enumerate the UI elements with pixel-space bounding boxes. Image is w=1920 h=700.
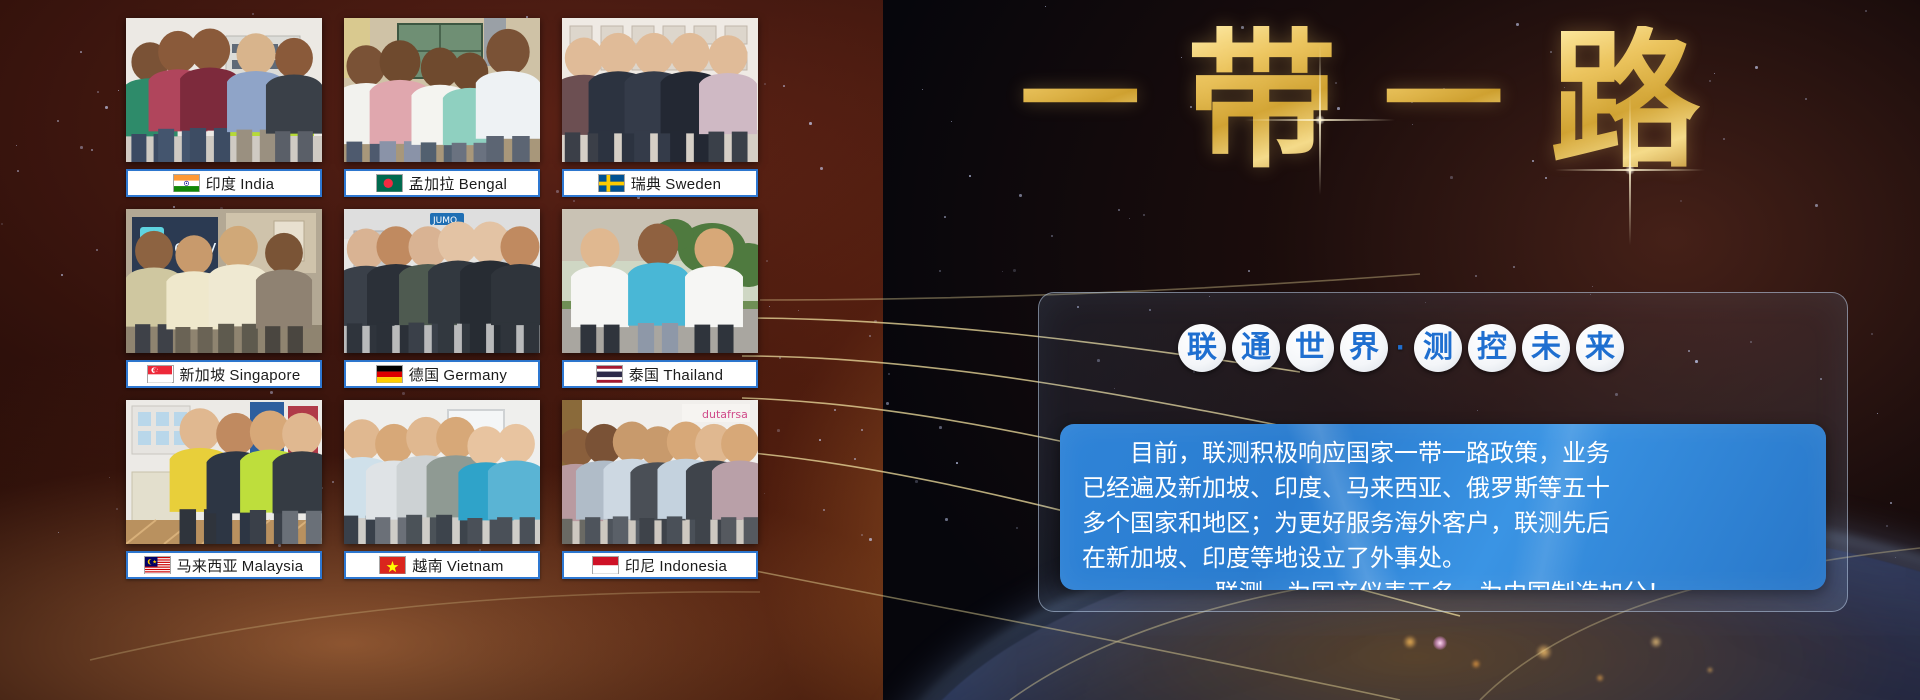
photo-bengal-factory-group (344, 18, 540, 162)
photo-indonesia-showroom: dutafrsa ASHCROFT (562, 400, 758, 544)
photo-germany-plant-visit: JUMO (344, 209, 540, 353)
country-caption: 印度India (126, 169, 322, 197)
slogan-row: 联 通 世 界 · 测 控 未 来 (1178, 324, 1624, 372)
country-caption: 新加坡Singapore (126, 360, 322, 388)
country-name-en: Malaysia (242, 558, 304, 575)
country-caption-label: 泰国Thailand (629, 364, 724, 385)
slogan-badge: 来 (1576, 324, 1624, 372)
country-caption: 马来西亚Malaysia (126, 551, 322, 579)
flag-india-icon (174, 175, 199, 191)
flag-singapore-icon (148, 366, 173, 382)
calligraphy-char-2: 带 (1187, 26, 1337, 176)
country-caption-label: 孟加拉Bengal (409, 173, 507, 194)
country-name-cn: 泰国 (629, 367, 660, 384)
slogan-badge: 测 (1414, 324, 1462, 372)
country-card-india[interactable]: 印度India (126, 18, 322, 197)
country-name-en: Thailand (663, 367, 723, 384)
country-caption: 瑞典Sweden (562, 169, 758, 197)
svg-text:dutafrsa: dutafrsa (702, 408, 748, 421)
country-caption-label: 印尼Indonesia (625, 555, 727, 576)
slogan-separator: · (1394, 331, 1408, 365)
country-card-sweden[interactable]: 瑞典Sweden (562, 18, 758, 197)
belt-and-road-banner: 一 带 一 路 联 通 世 界 · 测 控 未 来 目前，联测积极响应国家一带一… (0, 0, 1920, 700)
calligraphy-char-3: 一 (1383, 41, 1503, 161)
country-name-en: Vietnam (447, 558, 504, 575)
country-name-cn: 孟加拉 (409, 176, 455, 193)
country-caption: 印尼Indonesia (562, 551, 758, 579)
country-photo-grid: 印度India (126, 18, 778, 579)
country-card-thailand[interactable]: 泰国Thailand (562, 209, 758, 388)
country-card-vietnam[interactable]: 越南Vietnam (344, 400, 540, 579)
country-caption-label: 瑞典Sweden (631, 173, 722, 194)
country-name-en: Bengal (459, 176, 508, 193)
photo-india-exhibition-booth (126, 18, 322, 162)
country-name-cn: 瑞典 (631, 176, 662, 193)
country-name-en: Germany (443, 367, 507, 384)
description-line: 联测，为国产仪表正名，为中国制造加分！ (1082, 576, 1804, 590)
photo-thailand-outdoor-group (562, 209, 758, 353)
photo-malaysia-trade-show (126, 400, 322, 544)
calligraphy-char-1: 一 (1020, 41, 1140, 161)
country-name-en: India (240, 176, 274, 193)
country-caption-label: 印度India (206, 173, 275, 194)
country-card-bengal[interactable]: 孟加拉Bengal (344, 18, 540, 197)
description-line: 在新加坡、印度等地设立了外事处。 (1082, 541, 1804, 576)
description-callout: 目前，联测积极响应国家一带一路政策，业务 已经遍及新加坡、印度、马来西亚、俄罗斯… (1060, 424, 1826, 590)
flag-vietnam-icon (380, 557, 405, 573)
country-caption-label: 德国Germany (409, 364, 507, 385)
country-card-indonesia[interactable]: dutafrsa ASHCROFT (562, 400, 758, 579)
country-name-cn: 印度 (206, 176, 237, 193)
country-caption: 泰国Thailand (562, 360, 758, 388)
country-caption: 孟加拉Bengal (344, 169, 540, 197)
slogan-badge: 界 (1340, 324, 1388, 372)
flag-sweden-icon (599, 175, 624, 191)
calligraphy-headline: 一 带 一 路 (1020, 6, 1700, 196)
flag-indonesia-icon (593, 557, 618, 573)
description-line: 多个国家和地区；为更好服务海外客户，联测先后 (1082, 506, 1804, 541)
slogan-badge: 联 (1178, 324, 1226, 372)
photo-singapore-meeting-room: ecev (126, 209, 322, 353)
slogan-badge: 未 (1522, 324, 1570, 372)
country-name-cn: 新加坡 (180, 367, 226, 384)
country-name-cn: 越南 (412, 558, 443, 575)
slogan-badge: 世 (1286, 324, 1334, 372)
country-name-cn: 德国 (409, 367, 440, 384)
description-line: 目前，联测积极响应国家一带一路政策，业务 (1082, 436, 1804, 471)
country-name-cn: 马来西亚 (177, 558, 238, 575)
country-caption-label: 越南Vietnam (412, 555, 503, 576)
calligraphy-char-4: 路 (1550, 26, 1700, 176)
flag-bangladesh-icon (377, 175, 402, 191)
country-card-singapore[interactable]: ecev 新加坡Singapore (126, 209, 322, 388)
country-name-en: Indonesia (659, 558, 727, 575)
photo-vietnam-office-group (344, 400, 540, 544)
flag-malaysia-icon (145, 557, 170, 573)
flag-thailand-icon (597, 366, 622, 382)
photo-sweden-office-group (562, 18, 758, 162)
description-text: 目前，联测积极响应国家一带一路政策，业务 已经遍及新加坡、印度、马来西亚、俄罗斯… (1060, 424, 1826, 590)
country-name-cn: 印尼 (625, 558, 656, 575)
country-card-germany[interactable]: JUMO (344, 209, 540, 388)
country-name-en: Sweden (665, 176, 721, 193)
country-caption: 德国Germany (344, 360, 540, 388)
country-name-en: Singapore (229, 367, 300, 384)
country-caption: 越南Vietnam (344, 551, 540, 579)
description-line: 已经遍及新加坡、印度、马来西亚、俄罗斯等五十 (1082, 471, 1804, 506)
slogan-badge: 通 (1232, 324, 1280, 372)
slogan-badge: 控 (1468, 324, 1516, 372)
country-card-malaysia[interactable]: 马来西亚Malaysia (126, 400, 322, 579)
country-caption-label: 新加坡Singapore (180, 364, 301, 385)
country-caption-label: 马来西亚Malaysia (177, 555, 304, 576)
flag-germany-icon (377, 366, 402, 382)
